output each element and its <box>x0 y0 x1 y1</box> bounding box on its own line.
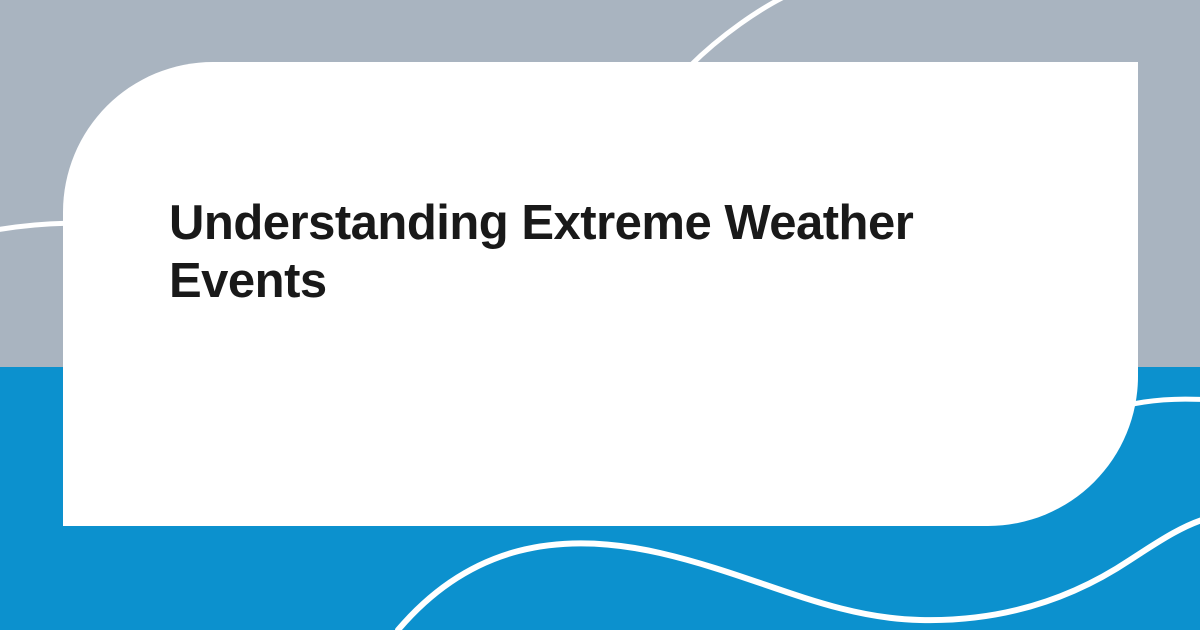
bottom-s-wave-line <box>398 519 1200 630</box>
right-wave-line <box>1128 399 1200 405</box>
page-title: Understanding Extreme Weather Events <box>169 194 929 310</box>
top-arc-line <box>690 0 790 66</box>
title-container: Understanding Extreme Weather Events <box>169 194 929 310</box>
poster-canvas: Understanding Extreme Weather Events <box>0 0 1200 630</box>
